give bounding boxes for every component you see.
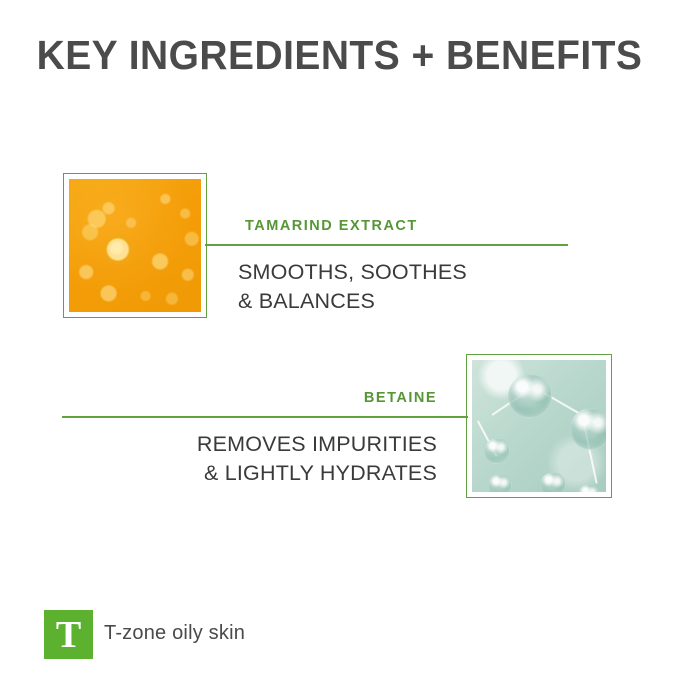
ingredient-benefit-tamarind-extract: SMOOTHS, SOOTHES & BALANCES bbox=[238, 258, 467, 316]
tamarind-divider-rule bbox=[205, 244, 568, 246]
t-zone-badge-icon: T bbox=[44, 610, 93, 659]
ingredient-label-tamarind-extract: TAMARIND EXTRACT bbox=[245, 218, 418, 234]
tamarind-extract-texture-icon bbox=[69, 179, 201, 312]
ingredient-benefit-betaine: REMOVES IMPURITIES & LIGHTLY HYDRATES bbox=[197, 430, 437, 488]
molecule-sphere-icon bbox=[488, 474, 512, 492]
molecule-sphere-icon bbox=[484, 438, 510, 464]
betaine-divider-rule bbox=[62, 416, 468, 418]
ingredient-label-betaine: BETAINE bbox=[364, 390, 437, 406]
betaine-image-tile bbox=[466, 354, 612, 498]
molecule-sphere-icon bbox=[578, 484, 600, 492]
tamarind-extract-image-tile bbox=[63, 173, 207, 318]
molecule-sphere-icon bbox=[540, 472, 566, 492]
footer-caption: T-zone oily skin bbox=[104, 622, 245, 645]
key-ingredients-infographic: KEY INGREDIENTS + BENEFITS TAMARIND EXTR… bbox=[0, 0, 679, 679]
betaine-molecule-texture-icon bbox=[472, 360, 606, 492]
page-title: KEY INGREDIENTS + BENEFITS bbox=[17, 32, 662, 79]
molecule-sphere-icon bbox=[508, 374, 552, 418]
t-zone-badge-letter: T bbox=[56, 616, 81, 654]
molecule-sphere-icon bbox=[570, 408, 606, 450]
